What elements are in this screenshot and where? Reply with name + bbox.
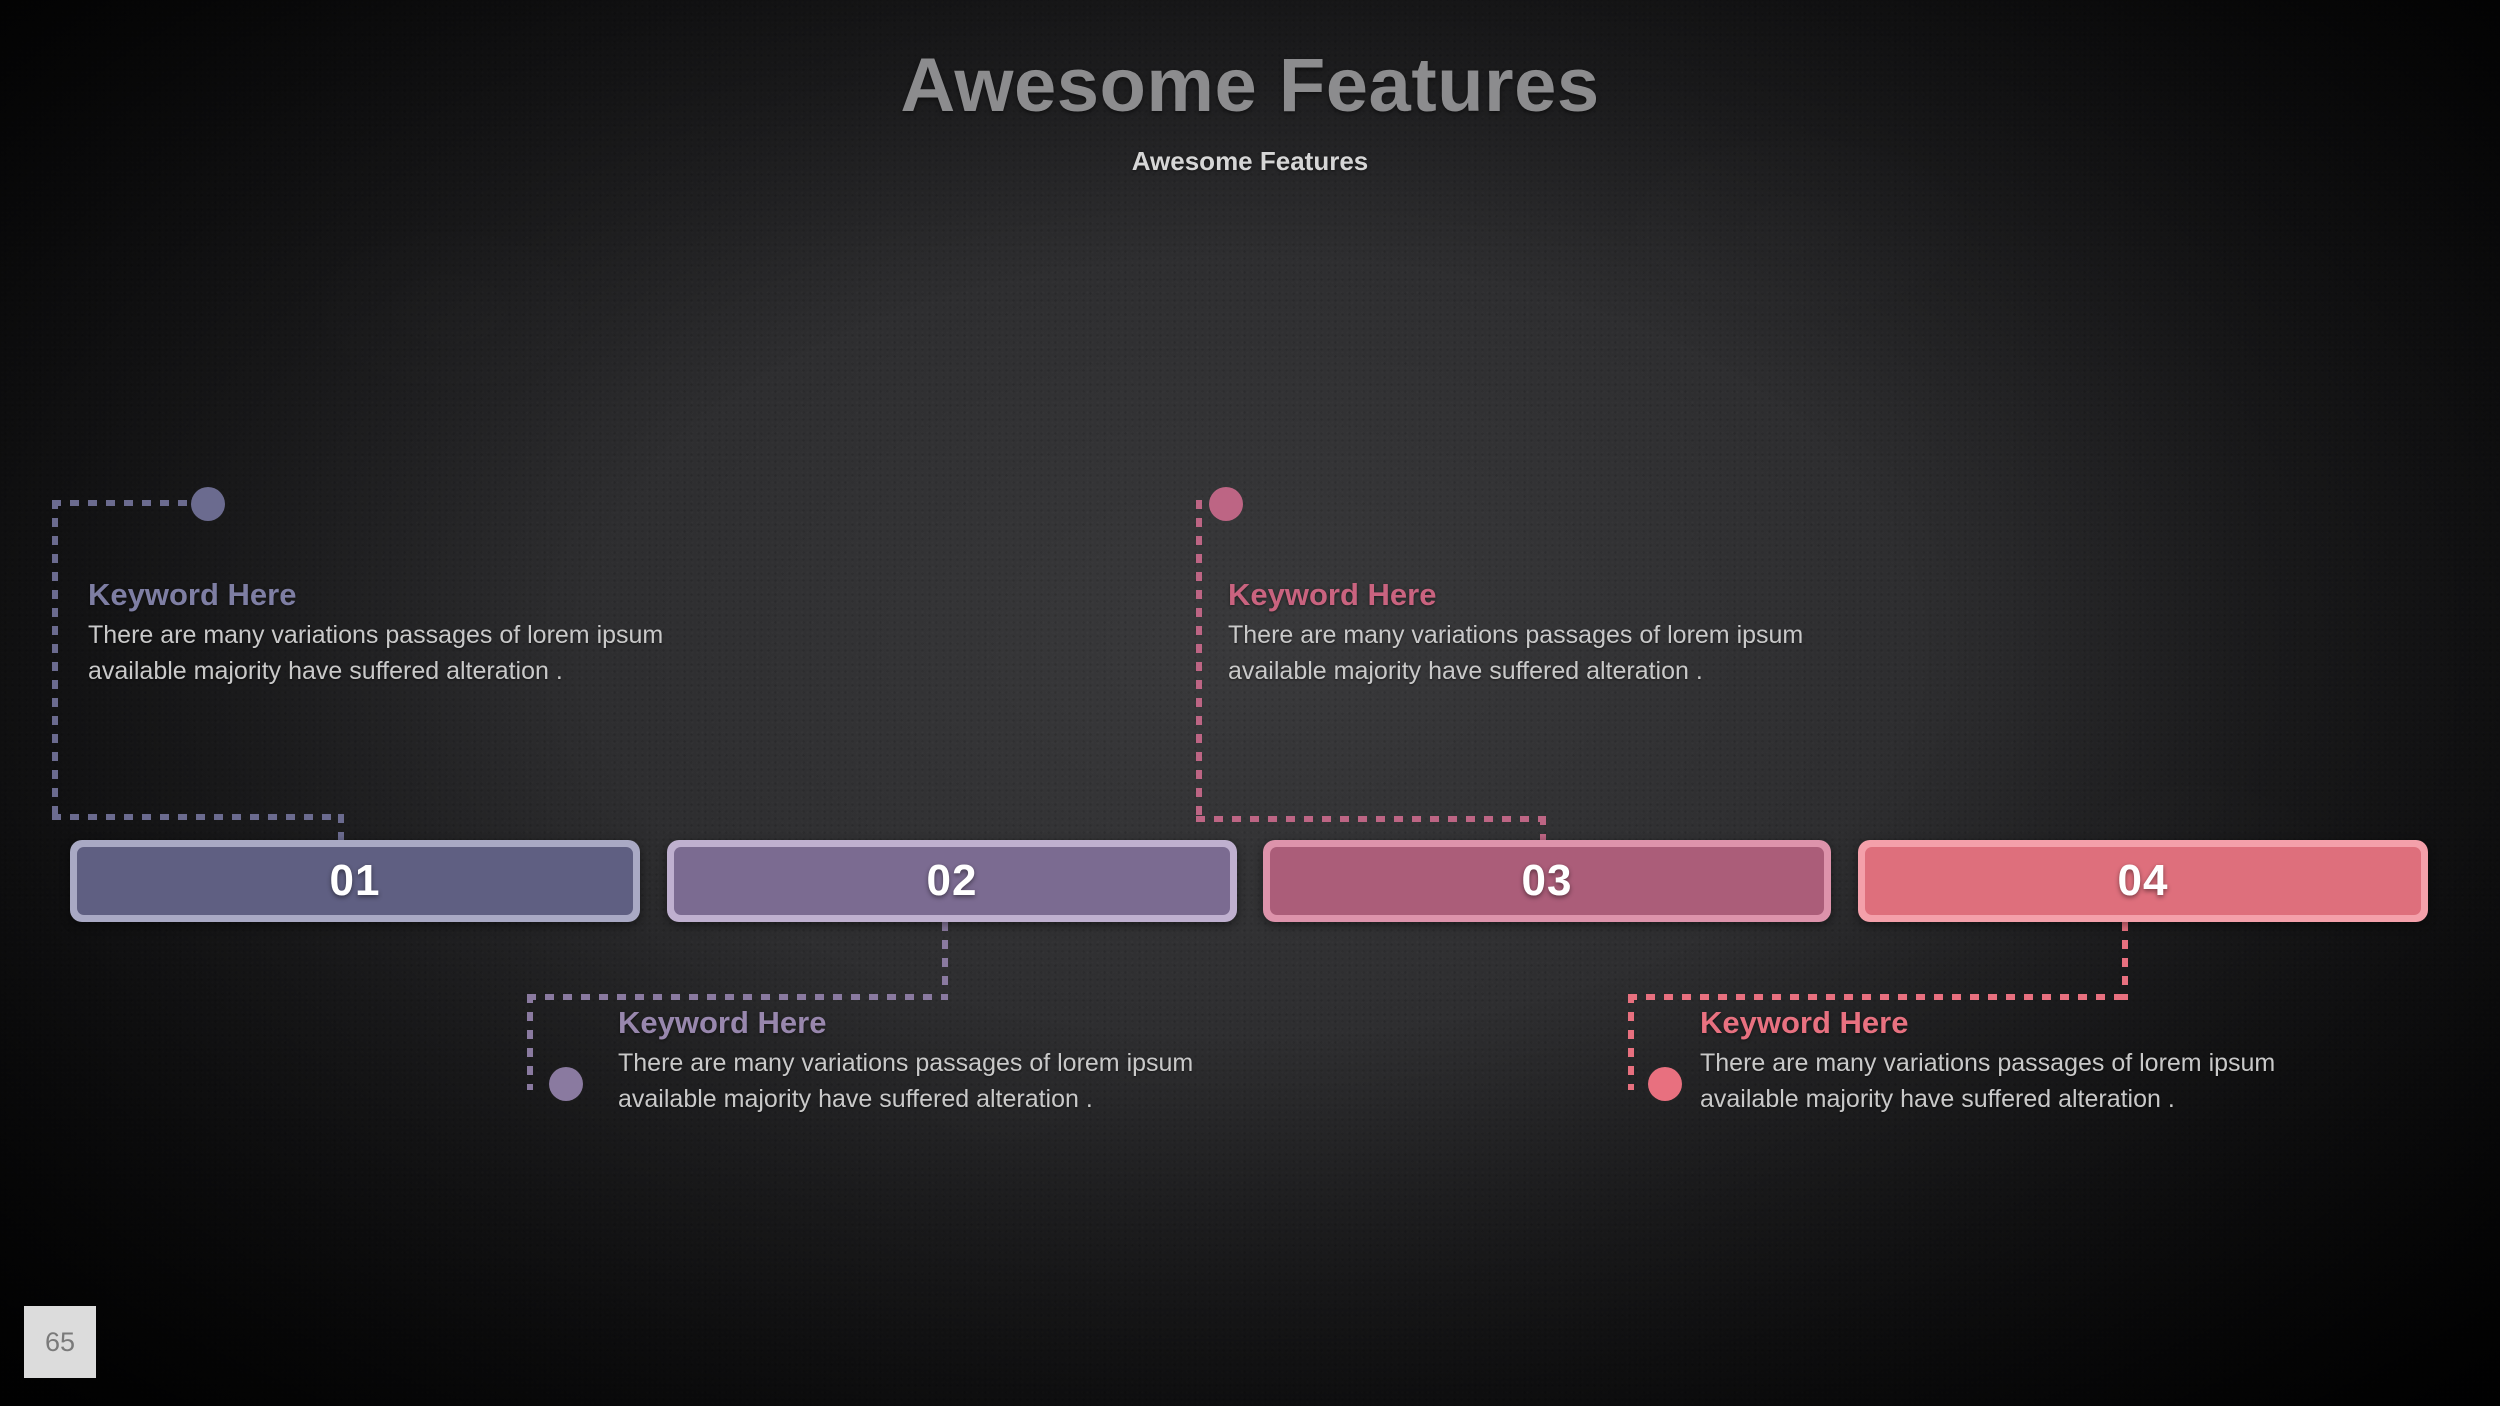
connector-03-left-vertical [1196,500,1202,822]
connector-01-left-vertical [52,500,58,820]
chalkboard-smudge-overlay [0,0,2500,1406]
feature-text-block-02: Keyword Here There are many variations p… [618,1006,1198,1117]
page-number-badge: 65 [24,1306,96,1378]
connector-04-left-vertical [1628,994,1634,1090]
page-subtitle: Awesome Features [0,146,2500,177]
feature-bar-04[interactable]: 04 [1858,840,2428,922]
feature-bar-number-03: 03 [1522,856,1573,906]
connector-01-bottom-horizontal [52,814,344,820]
connector-dot-04 [1648,1067,1682,1101]
connector-01-top-horizontal [52,500,202,506]
connector-dot-01 [191,487,225,521]
feature-keyword-02: Keyword Here [618,1006,1198,1040]
feature-keyword-03: Keyword Here [1228,578,1808,612]
chalkboard-grain-texture [0,0,2500,1406]
connector-dot-03 [1209,487,1243,521]
feature-keyword-01: Keyword Here [88,578,668,612]
connector-02-riser-vertical [942,922,948,1000]
connector-02-left-vertical [527,994,533,1090]
feature-body-04: There are many variations passages of lo… [1700,1046,2280,1117]
feature-body-03: There are many variations passages of lo… [1228,618,1808,689]
connector-04-riser-vertical [2122,922,2128,1000]
feature-body-01: There are many variations passages of lo… [88,618,668,689]
connector-04-top-horizontal [1628,994,2128,1000]
feature-bar-number-01: 01 [330,856,381,906]
feature-bar-number-04: 04 [2118,856,2169,906]
feature-bars-row: 01 02 03 04 [0,840,2500,930]
feature-body-02: There are many variations passages of lo… [618,1046,1198,1117]
connector-03-bottom-horizontal [1196,816,1546,822]
slide-header: Awesome Features Awesome Features [0,48,2500,177]
vignette-overlay [0,0,2500,1406]
connector-02-top-horizontal [527,994,948,1000]
feature-text-block-01: Keyword Here There are many variations p… [88,578,668,689]
feature-bar-number-02: 02 [927,856,978,906]
feature-text-block-03: Keyword Here There are many variations p… [1228,578,1808,689]
page-title: Awesome Features [0,48,2500,124]
feature-keyword-04: Keyword Here [1700,1006,2280,1040]
feature-text-block-04: Keyword Here There are many variations p… [1700,1006,2280,1117]
slide-canvas: Awesome Features Awesome Features Keywor… [0,0,2500,1406]
feature-bar-02[interactable]: 02 [667,840,1237,922]
connector-dot-02 [549,1067,583,1101]
feature-bar-03[interactable]: 03 [1263,840,1831,922]
feature-bar-01[interactable]: 01 [70,840,640,922]
